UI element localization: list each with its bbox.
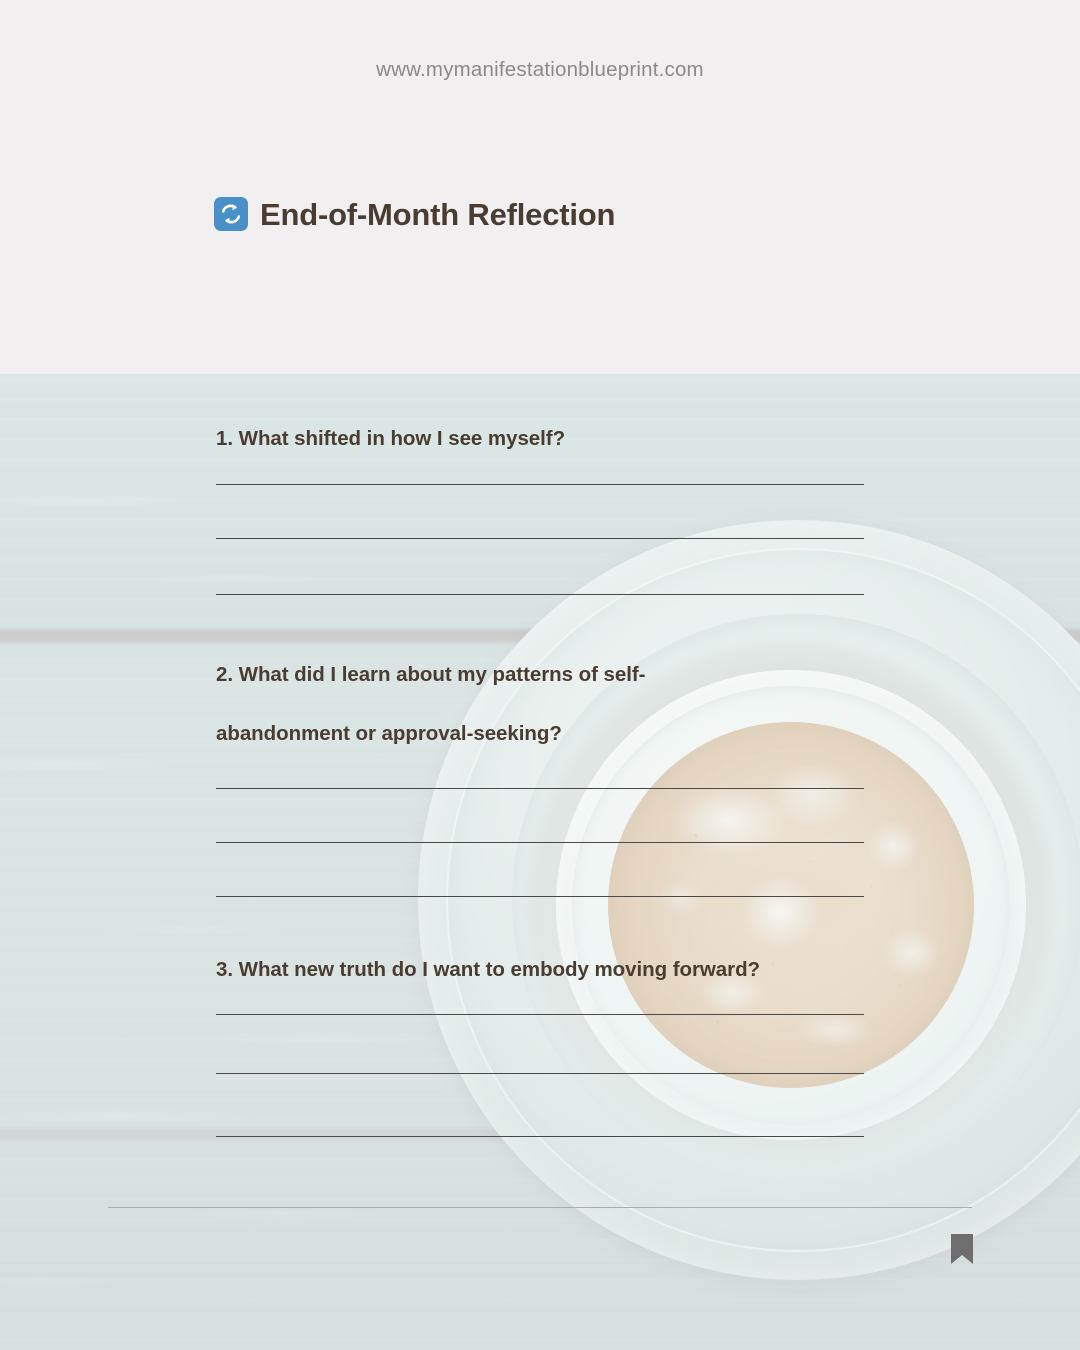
answer-line[interactable] [216, 788, 864, 789]
answer-line[interactable] [216, 594, 864, 595]
question-1-label: 1. What shifted in how I see myself? [216, 409, 906, 468]
answer-line[interactable] [216, 484, 864, 485]
answer-line[interactable] [216, 538, 864, 539]
worksheet-content: 1. What shifted in how I see myself? 2. … [0, 0, 1080, 1350]
answer-line[interactable] [216, 896, 864, 897]
answer-line[interactable] [216, 1014, 864, 1015]
question-3-label: 3. What new truth do I want to embody mo… [216, 940, 906, 999]
question-2-label: 2. What did I learn about my patterns of… [216, 645, 746, 763]
answer-line[interactable] [216, 842, 864, 843]
answer-line[interactable] [216, 1073, 864, 1074]
bookmark-icon[interactable] [951, 1234, 973, 1264]
worksheet-page: www.mymanifestationblueprint.com End-of-… [0, 0, 1080, 1350]
answer-line[interactable] [216, 1136, 864, 1137]
footer-divider [108, 1207, 972, 1208]
